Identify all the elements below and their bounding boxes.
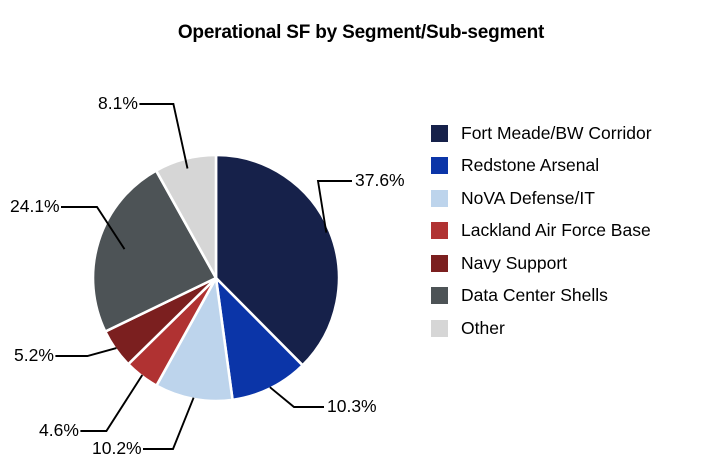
legend-item[interactable]: Data Center Shells bbox=[431, 280, 711, 313]
legend-color-swatch bbox=[431, 190, 448, 207]
leader-line bbox=[143, 398, 194, 449]
legend-item-label: Fort Meade/BW Corridor bbox=[461, 125, 652, 143]
legend-color-swatch bbox=[431, 125, 448, 142]
legend-item[interactable]: NoVA Defense/IT bbox=[431, 182, 711, 215]
legend-item[interactable]: Redstone Arsenal bbox=[431, 150, 711, 183]
leader-line bbox=[55, 348, 116, 356]
pie-chart-area: 37.6%10.3%10.2%4.6%5.2%24.1%8.1% bbox=[0, 0, 440, 470]
pie-slice-percent-label: 10.3% bbox=[327, 396, 377, 417]
legend-item[interactable]: Other bbox=[431, 312, 711, 345]
pie-slice-percent-label: 10.2% bbox=[92, 438, 142, 459]
leader-line bbox=[80, 375, 142, 431]
legend-item-label: Data Center Shells bbox=[461, 287, 608, 305]
chart-canvas: Operational SF by Segment/Sub-segment 37… bbox=[0, 0, 722, 470]
legend-color-swatch bbox=[431, 320, 448, 337]
pie-slice-percent-label: 4.6% bbox=[39, 420, 79, 441]
legend-color-swatch bbox=[431, 222, 448, 239]
pie-slice-percent-label: 8.1% bbox=[98, 93, 138, 114]
leader-line bbox=[61, 207, 125, 249]
leader-line bbox=[139, 104, 187, 169]
pie-slice-percent-label: 24.1% bbox=[10, 196, 60, 217]
legend-color-swatch bbox=[431, 255, 448, 272]
legend-color-swatch bbox=[431, 287, 448, 304]
legend-item-label: NoVA Defense/IT bbox=[461, 190, 595, 208]
legend-item-label: Other bbox=[461, 320, 505, 338]
legend-item-label: Redstone Arsenal bbox=[461, 157, 599, 175]
pie-slice-percent-label: 37.6% bbox=[355, 170, 405, 191]
leader-line bbox=[270, 387, 324, 407]
pie-slice-percent-label: 5.2% bbox=[14, 345, 54, 366]
legend-item-label: Navy Support bbox=[461, 255, 567, 273]
legend-item[interactable]: Fort Meade/BW Corridor bbox=[431, 117, 711, 150]
leader-line bbox=[318, 181, 352, 233]
legend-color-swatch bbox=[431, 157, 448, 174]
legend-item[interactable]: Navy Support bbox=[431, 247, 711, 280]
legend: Fort Meade/BW CorridorRedstone ArsenalNo… bbox=[431, 117, 711, 345]
legend-item[interactable]: Lackland Air Force Base bbox=[431, 215, 711, 248]
legend-item-label: Lackland Air Force Base bbox=[461, 222, 651, 240]
